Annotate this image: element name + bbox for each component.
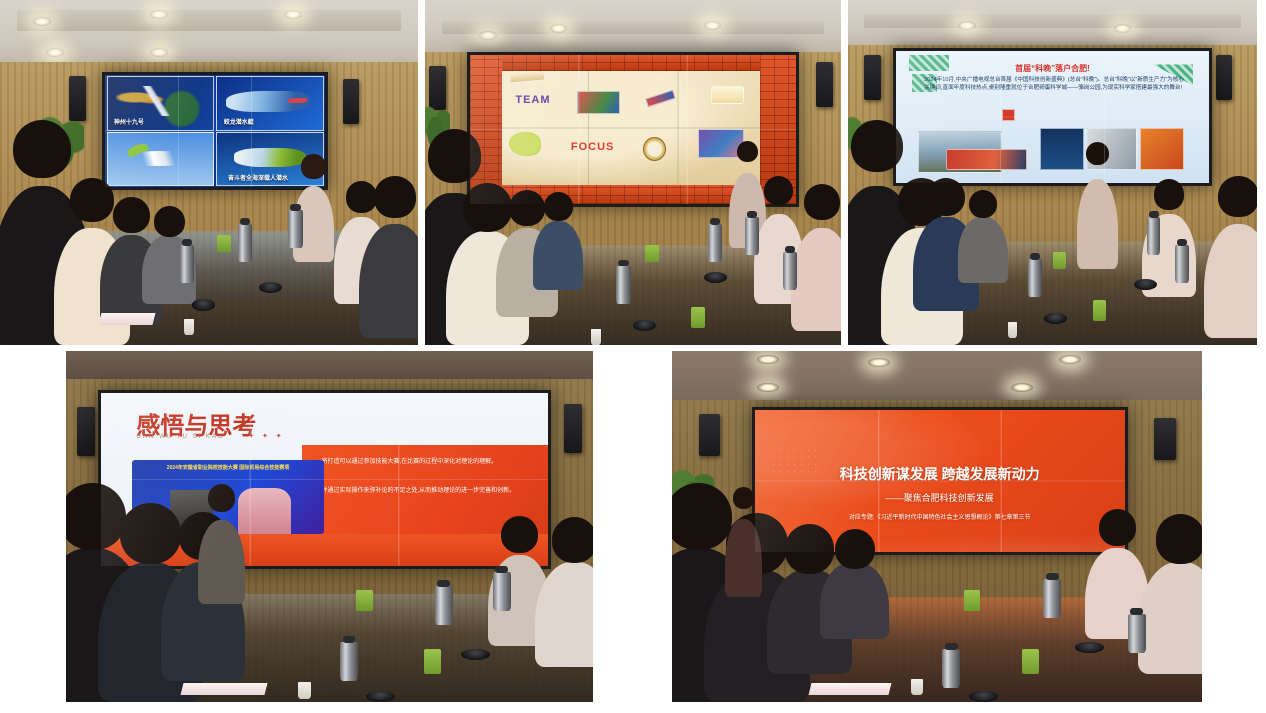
red-badge [1002,109,1015,121]
attendee [820,562,889,639]
attendee-head [346,181,378,213]
photo-bottom-right[interactable]: 科技创新谋发展 跨越发展新动力 ——聚焦合肥科技创新发展 对应专题:《习近平新时… [672,351,1202,702]
slide-sci-tech-gala: 首届“科晚”落户合肥! 2024年10月,中央广播电视总台首届《中国科技创新盛典… [896,51,1209,183]
thermos-flask [1028,259,1042,297]
microphone-base [461,649,490,660]
attendee-head [66,483,126,550]
attendee [533,221,583,290]
ceiling-light [958,21,975,30]
ceiling-light [479,31,496,40]
attendee-head [1099,509,1136,546]
thermos-flask [238,224,252,262]
name-card [1093,300,1106,321]
attendee-head [552,517,593,563]
slide-quadrant-3 [107,132,215,187]
attendee-head [154,206,186,238]
name-card [217,235,230,252]
thermos-flask [616,266,630,304]
led-video-wall: 首届“科晚”落户合肥! 2024年10月,中央广播电视总台首届《中国科技创新盛典… [893,48,1212,186]
presenter-head [733,487,755,509]
name-card [1022,649,1039,674]
name-card [356,590,373,611]
notepad-icon [711,86,744,104]
wall-speaker-right [1154,418,1175,460]
team-label: TEAM [515,94,550,106]
thermos-flask [493,572,511,611]
attendee-head [835,529,875,569]
photo-bottom-left[interactable]: 感悟与思考 GAN WU YU SI KAO ✦ ✦ ✦ 将打造可以通过参加技能… [66,351,593,702]
wall-speaker-left [699,414,720,456]
presenter-head [208,484,236,512]
microphone-base [1075,642,1104,653]
slide-quadrant-2: 蛟龙潜水艇 [216,76,324,131]
photo-top-center[interactable]: TEAM FOCUS [425,0,841,345]
slide-science-achievements: 神州十九号 蛟龙潜水艇 奋斗者全海深载人潜水 [105,75,325,186]
exhibit-photo [1040,128,1084,170]
quadrant-label-4: 奋斗者全海深载人潜水 [228,173,288,182]
microphone-base [366,691,395,702]
presenter-head [1086,142,1110,166]
presenter [725,519,762,596]
ceiling-light [757,383,779,392]
meeting-room-scene: 科技创新谋发展 跨越发展新动力 ——聚焦合肥科技创新发展 对应专题:《习近平新时… [672,351,1202,702]
name-card [424,649,441,674]
microphone-base [1134,279,1156,290]
wall-speaker-right [564,404,582,453]
brick-top [470,55,797,71]
thermos-flask [435,586,453,625]
video-card-title: 2024年安徽省职业院校技能大赛 国际贸易综合技能赛项 [140,465,317,471]
ceiling [66,351,593,383]
race-car-photo [946,149,1027,170]
thermos-flask [288,210,302,248]
paper-cup [591,329,601,345]
slide-sub-title: ——聚焦合肥科技创新发展 [755,491,1125,504]
name-card [1053,252,1066,269]
microphone-base [969,691,998,702]
slide-body: 2024年10月,中央广播电视总台首届《中国科技创新盛典》(总台“科晚”)。总台… [924,76,1184,92]
ceiling-light [757,355,779,364]
brain-icon [509,132,542,156]
photo-collage: 神州十九号 蛟龙潜水艇 奋斗者全海深载人潜水 [0,0,1266,713]
quadrant-label-1: 神州十九号 [114,117,144,126]
document [180,683,267,695]
brick-left [470,55,503,204]
thermos-flask [783,252,797,290]
rocket-image [116,86,203,115]
meeting-room-scene: 感悟与思考 GAN WU YU SI KAO ✦ ✦ ✦ 将打造可以通过参加技能… [66,351,593,702]
microphone-base [704,272,727,283]
deepsea-submersible-image [234,148,306,167]
wall-speaker-right [816,62,833,107]
compass-icon [643,137,666,161]
ceiling-beam [864,14,1240,28]
ceiling-light [1011,383,1033,392]
attendee-head [13,120,71,178]
slide-stars: ✦ ✦ ✦ [248,432,285,440]
attendee-head [1218,176,1257,216]
slide-title: 首届“科晚”落户合肥! [896,63,1209,74]
attendee-head [501,516,538,553]
thermos-flask [942,649,960,688]
focus-label: FOCUS [571,141,615,153]
attendee-head [1154,179,1185,210]
ceiling-light [704,21,721,30]
panel-line-1: 将打造可以通过参加技能大赛,在比赛的过程中深化对理论的理解。 [322,458,529,468]
presenter [1077,179,1118,269]
name-card [691,307,704,328]
wall-speaker-left [864,55,880,100]
attendee-head [374,176,415,217]
airplane-image [120,151,200,167]
document [99,313,156,325]
paper-cup [911,679,924,695]
attendee [359,224,418,338]
photo-top-right[interactable]: 首届“科晚”落户合肥! 2024年10月,中央广播电视总台首届《中国科技创新盛典… [848,0,1257,345]
ceiling-beam [442,21,825,35]
wall-speaker-left [77,407,95,456]
meeting-room-scene: 神州十九号 蛟龙潜水艇 奋斗者全海深载人潜水 [0,0,418,345]
ceiling-beam [17,10,402,31]
thermos-flask [1128,614,1146,653]
video-person-right [238,488,292,534]
slide-main-title: 科技创新谋发展 跨越发展新动力 [755,464,1125,484]
attendee-head [785,524,834,573]
thermos-flask [1043,579,1061,618]
attendee-head [70,178,114,222]
presenter [198,520,245,604]
led-video-wall: 神州十九号 蛟龙潜水艇 奋斗者全海深载人潜水 [102,72,328,189]
paper-cup [298,682,311,698]
microphone-base [192,299,215,310]
quadrant-label-2: 蛟龙潜水艇 [224,117,254,126]
wall-speaker-right [343,79,360,124]
attendee-head [764,176,793,205]
attendee-head [544,192,573,221]
wall-speaker-right [1216,55,1232,100]
thermos-flask [340,642,358,681]
attendee-head [463,183,511,231]
attendee-head [428,129,481,182]
slide-title-pinyin: GAN WU YU SI KAO [136,434,224,440]
presenter-head [737,141,759,163]
attendee-head [120,503,181,564]
attendee-head [804,184,840,220]
attendee-head [927,178,965,216]
thermos-flask [708,224,722,262]
paper-cup [1008,322,1018,338]
slide-grid-lines [499,65,767,190]
slide-paper-background [499,65,767,190]
ceiling-light [46,48,64,57]
thermos-flask [1147,217,1161,255]
attendee-head [851,120,903,172]
paper-cup [184,319,194,335]
slide-quadrant-1: 神州十九号 [107,76,215,131]
photo-top-left[interactable]: 神州十九号 蛟龙潜水艇 奋斗者全海深载人潜水 [0,0,418,345]
presenter-head [301,154,325,178]
name-card [964,590,981,611]
attendee-head [969,190,997,218]
people-icon [577,91,619,115]
meeting-room-scene: TEAM FOCUS [425,0,841,345]
attendee-head [509,190,545,226]
thermos-flask [1175,245,1189,283]
attendee-head [1156,514,1202,563]
thermos-flask [745,217,759,255]
document [808,683,890,695]
name-card [645,245,658,262]
ceiling-light [1059,355,1081,364]
attendee [958,217,1007,283]
meeting-room-scene: 首届“科晚”落户合肥! 2024年10月,中央广播电视总台首届《中国科技创新盛典… [848,0,1257,345]
ceiling [672,351,1202,404]
display-photo [1140,128,1184,170]
thermos-flask [180,245,194,283]
submarine-image [226,91,311,112]
panel-line-2: 并通过实际操作来弥补论的不足之处,从而推动理论的进一步完善和创新。 [322,487,529,497]
attendee-head [113,197,149,233]
